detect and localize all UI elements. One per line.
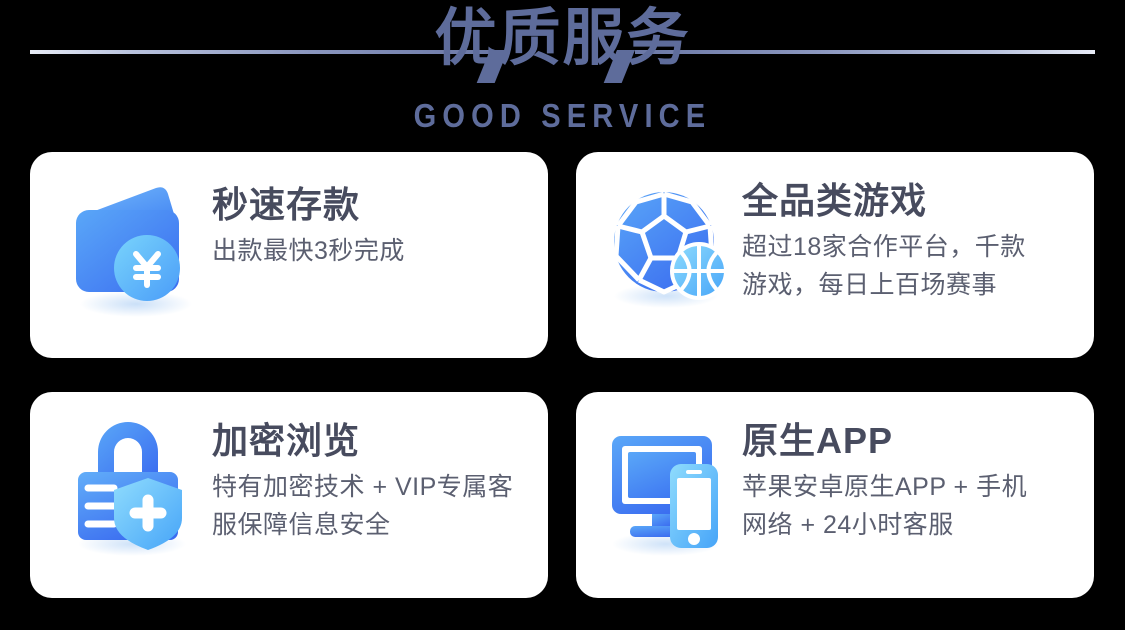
card-subtitle: 出款最快3秒完成 xyxy=(212,232,538,270)
card-subtitle-line: 特有加密技术 + VIP专属客 xyxy=(212,468,538,506)
feature-card-native-app[interactable]: 原生APP 苹果安卓原生APP + 手机 网络 + 24小时客服 xyxy=(576,392,1094,598)
feature-card-games[interactable]: 全品类游戏 超过18家合作平台，千款 游戏，每日上百场赛事 xyxy=(576,152,1094,358)
card-subtitle: 超过18家合作平台，千款 游戏，每日上百场赛事 xyxy=(742,228,1084,304)
card-subtitle-line: 服保障信息安全 xyxy=(212,506,538,544)
card-text-native-app: 原生APP 苹果安卓原生APP + 手机 网络 + 24小时客服 xyxy=(742,418,1084,544)
card-subtitle-line: 网络 + 24小时客服 xyxy=(742,506,1084,544)
good-service-panel: 优质服务 GOOD SERVICE xyxy=(0,0,1125,630)
feature-card-deposit[interactable]: 秒速存款 出款最快3秒完成 xyxy=(30,152,548,358)
card-title: 加密浏览 xyxy=(212,418,538,464)
card-text-games: 全品类游戏 超过18家合作平台，千款 游戏，每日上百场赛事 xyxy=(742,178,1084,304)
card-subtitle-line: 游戏，每日上百场赛事 xyxy=(742,266,1084,304)
wallet-yen-icon xyxy=(70,182,202,322)
card-title: 全品类游戏 xyxy=(742,178,1084,224)
section-header: 优质服务 GOOD SERVICE xyxy=(0,0,1125,145)
lock-shield-icon xyxy=(70,414,202,554)
card-subtitle: 特有加密技术 + VIP专属客 服保障信息安全 xyxy=(212,468,538,544)
feature-card-encryption[interactable]: 加密浏览 特有加密技术 + VIP专属客 服保障信息安全 xyxy=(30,392,548,598)
monitor-phone-icon xyxy=(604,422,736,562)
soccer-basketball-icon xyxy=(606,180,738,320)
card-subtitle-line: 出款最快3秒完成 xyxy=(212,232,538,270)
card-title: 原生APP xyxy=(742,418,1084,464)
card-subtitle: 苹果安卓原生APP + 手机 网络 + 24小时客服 xyxy=(742,468,1084,544)
card-text-deposit: 秒速存款 出款最快3秒完成 xyxy=(212,182,538,270)
card-subtitle-line: 苹果安卓原生APP + 手机 xyxy=(742,468,1084,506)
section-title-en: GOOD SERVICE xyxy=(68,97,1058,135)
card-text-encryption: 加密浏览 特有加密技术 + VIP专属客 服保障信息安全 xyxy=(212,418,538,544)
card-subtitle-line: 超过18家合作平台，千款 xyxy=(742,228,1084,266)
section-title-cn: 优质服务 xyxy=(0,6,1125,72)
card-title: 秒速存款 xyxy=(212,182,538,228)
